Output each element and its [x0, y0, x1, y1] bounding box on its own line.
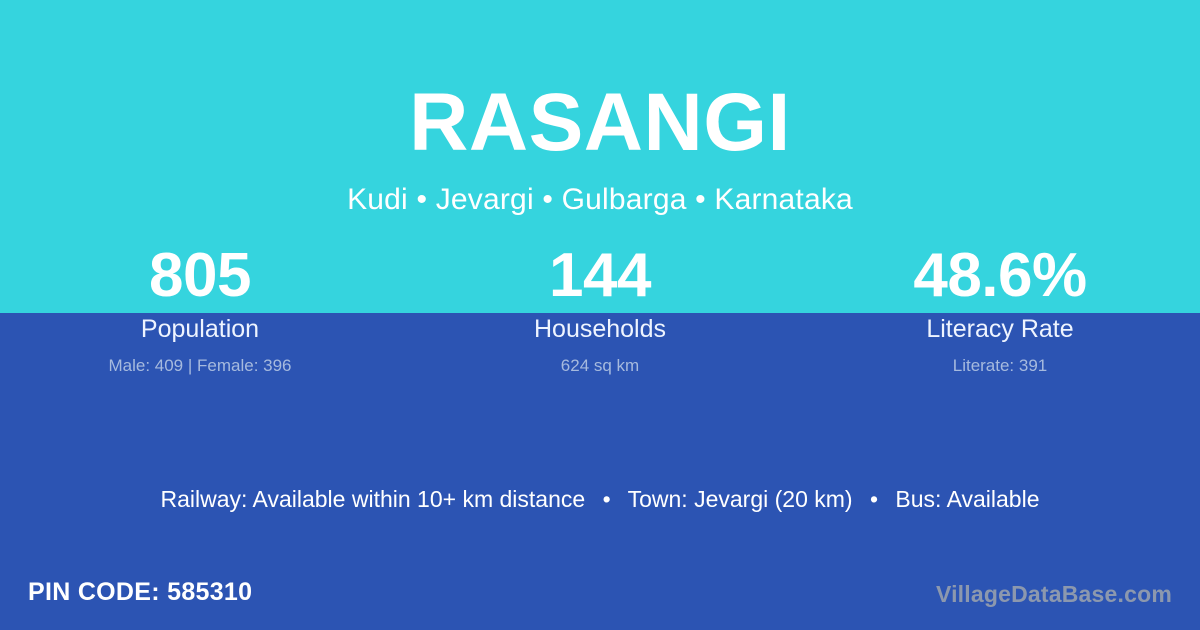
footer: PIN CODE: 585310 VillageDataBase.com — [0, 575, 1200, 630]
stat-value: 805 — [0, 243, 400, 309]
page-title: RASANGI — [0, 0, 1200, 164]
stat-sublabel: Male: 409 | Female: 396 — [0, 345, 400, 378]
stat-label: Population — [0, 309, 400, 345]
stat-sublabel: Literate: 391 — [800, 345, 1200, 378]
stat-literacy-rate: 48.6% Literacy Rate Literate: 391 — [800, 243, 1200, 378]
stat-households: 144 Households 624 sq km — [400, 243, 800, 378]
title-block: RASANGI Kudi • Jevargi • Gulbarga • Karn… — [0, 0, 1200, 215]
stat-label: Households — [400, 309, 800, 345]
infra-separator: • — [859, 484, 889, 514]
stats-row: 805 Population Male: 409 | Female: 396 1… — [0, 243, 1200, 378]
infrastructure-line: Railway: Available within 10+ km distanc… — [0, 484, 1200, 514]
pin-code: PIN CODE: 585310 — [28, 575, 252, 609]
stat-value: 48.6% — [800, 243, 1200, 309]
breadcrumb: Kudi • Jevargi • Gulbarga • Karnataka — [0, 164, 1200, 215]
infra-separator: • — [592, 484, 622, 514]
stat-value: 144 — [400, 243, 800, 309]
infra-railway: Railway: Available within 10+ km distanc… — [161, 486, 586, 512]
infra-town: Town: Jevargi (20 km) — [628, 486, 853, 512]
village-info-card: RASANGI Kudi • Jevargi • Gulbarga • Karn… — [0, 0, 1200, 630]
infra-bus: Bus: Available — [895, 486, 1039, 512]
stat-label: Literacy Rate — [800, 309, 1200, 345]
stat-sublabel: 624 sq km — [400, 345, 800, 378]
stat-population: 805 Population Male: 409 | Female: 396 — [0, 243, 400, 378]
site-watermark: VillageDataBase.com — [936, 578, 1172, 610]
